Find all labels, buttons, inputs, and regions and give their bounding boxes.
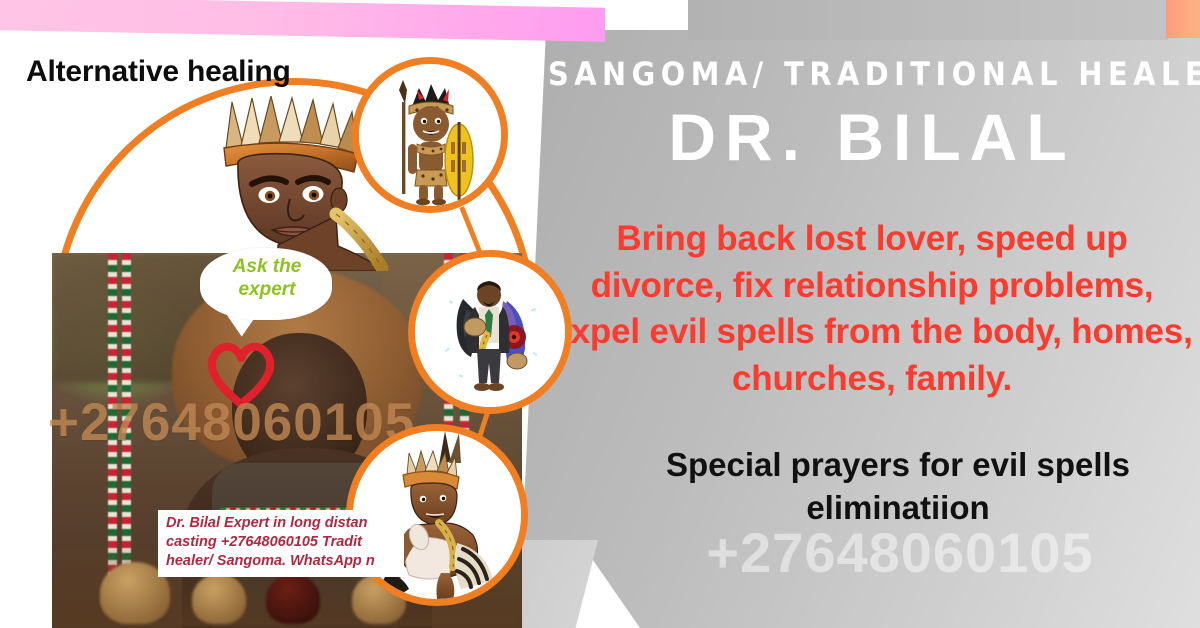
zulu-warrior-icon	[359, 64, 501, 206]
panel-phone-watermark: +27648060105	[600, 525, 1200, 581]
top-orange-strip	[1166, 0, 1200, 38]
traditional-healer-icon	[415, 257, 565, 407]
special-prayers-text: Special prayers for evil spells eliminat…	[600, 444, 1196, 530]
badge-traditional-healer[interactable]	[408, 250, 572, 414]
alternative-healing-heading: Alternative healing	[26, 55, 291, 89]
badge-zulu-warrior[interactable]	[352, 57, 508, 213]
brand-name: DR. BILAL	[548, 104, 1196, 170]
caption-line: Dr. Bilal Expert in long distan	[166, 514, 398, 533]
photo-pot	[192, 574, 246, 624]
photo-phone-watermark: +27648060105	[48, 392, 415, 453]
kicker-headline: SANGOMA/ TRADITIONAL HEALER	[548, 58, 1196, 92]
services-description: Bring back lost lover, speed up divorce,…	[546, 216, 1198, 402]
poster-canvas: Alternative healing	[0, 0, 1200, 628]
caption-line: casting +27648060105 Tradit	[166, 533, 398, 552]
caption-line: healer/ Sangoma. WhatsApp n	[166, 552, 398, 571]
photo-pot	[266, 574, 320, 624]
speech-bubble-text: Ask the expert	[206, 255, 328, 301]
top-gray-strip	[688, 0, 1168, 40]
photo-caption-box: Dr. Bilal Expert in long distan casting …	[158, 510, 404, 577]
